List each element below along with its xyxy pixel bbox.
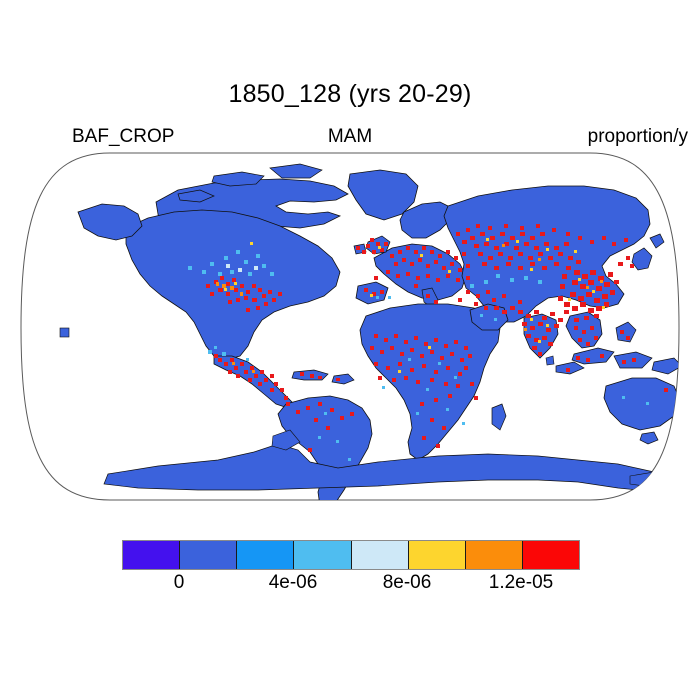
colorbar-tick-label: 1.2e-05 — [489, 572, 553, 594]
colorbar-tick-label: 4e-06 — [269, 572, 318, 594]
colorbar-tick-label: 8e-06 — [383, 572, 432, 594]
colorbar-segment-0 — [123, 541, 180, 569]
chart-title: 1850_128 (yrs 20-29) — [0, 80, 700, 109]
colorbar-segment-2 — [237, 541, 294, 569]
units-label: proportion/y — [588, 126, 688, 148]
colorbar-segment-7 — [523, 541, 579, 569]
colorbar-segment-6 — [466, 541, 523, 569]
map-svg — [18, 150, 682, 506]
colorbar-ticks: 04e-068e-061.2e-05 — [0, 572, 700, 598]
colorbar-tick-label: 0 — [174, 572, 185, 594]
colorbar — [122, 540, 580, 570]
colorbar-segment-3 — [294, 541, 351, 569]
colorbar-segment-4 — [352, 541, 409, 569]
colorbar-segment-5 — [409, 541, 466, 569]
world-map — [18, 150, 682, 506]
colorbar-segment-1 — [180, 541, 237, 569]
